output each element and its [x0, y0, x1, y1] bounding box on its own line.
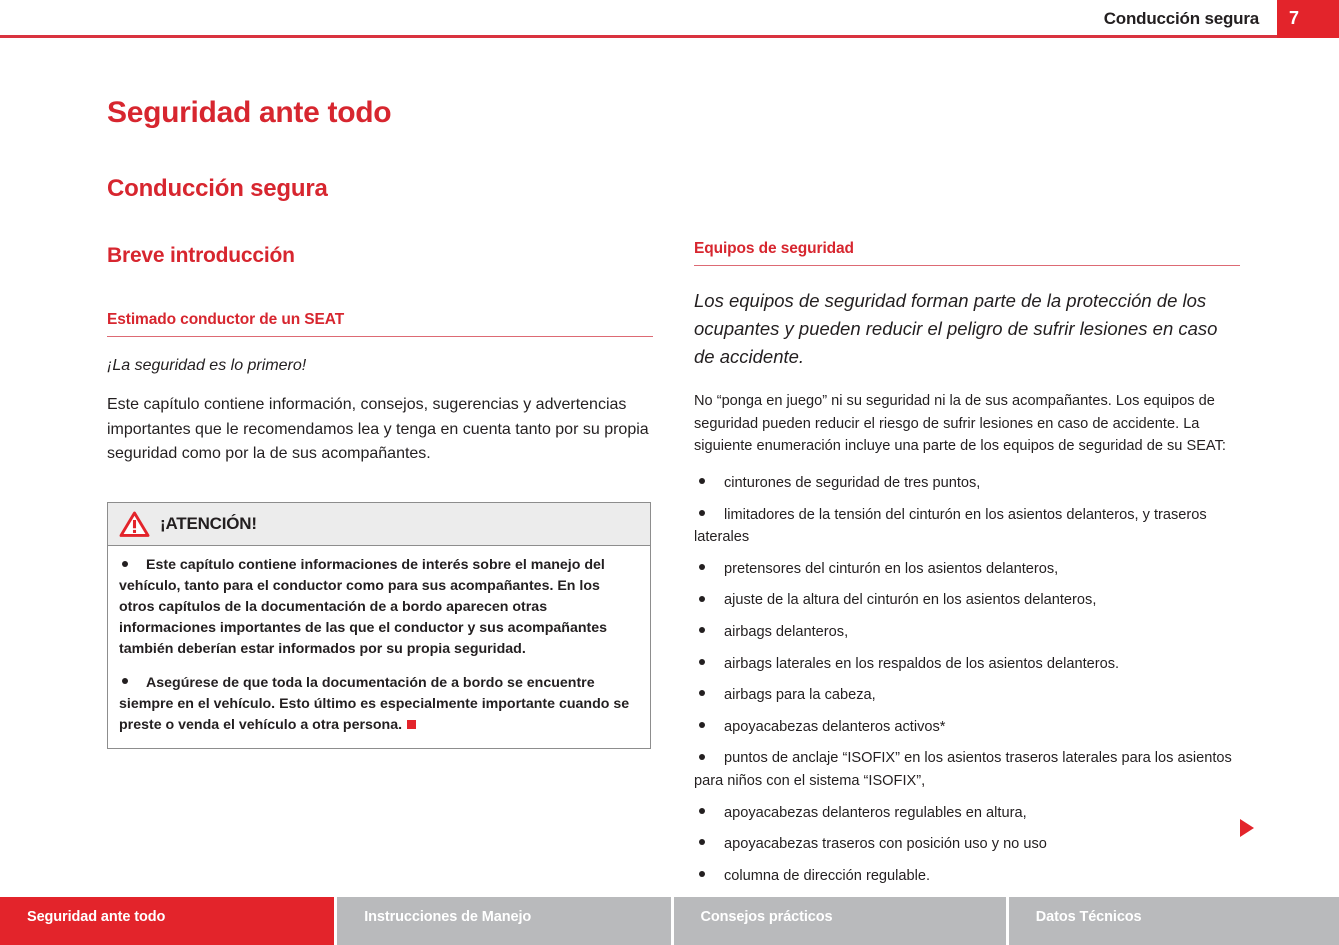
list-item-label: columna de dirección regulable. — [724, 868, 930, 884]
safety-equipment-list: cinturones de seguridad de tres puntos, … — [694, 472, 1240, 888]
list-item: puntos de anclaje “ISOFIX” en los asient… — [694, 747, 1240, 792]
list-item-label: airbags delanteros, — [724, 624, 848, 640]
list-item-label: cinturones de seguridad de tres puntos, — [724, 475, 980, 491]
left-column: Seguridad ante todo Conducción segura Br… — [107, 96, 653, 749]
bullet-dot-icon — [699, 722, 705, 728]
bullet-dot-icon — [699, 510, 705, 516]
bullet-dot-icon — [699, 627, 705, 633]
bullet-dot-icon — [699, 564, 705, 570]
right-lead-text: Los equipos de seguridad forman parte de… — [694, 287, 1240, 371]
left-lead-text: ¡La seguridad es lo primero! — [107, 354, 653, 377]
list-item-label: apoyacabezas delanteros regulables en al… — [724, 805, 1027, 821]
footer-tab-seguridad-ante-todo[interactable]: Seguridad ante todo — [0, 897, 334, 945]
bullet-dot-icon — [699, 596, 705, 602]
list-item-label: pretensores del cinturón en los asientos… — [724, 561, 1058, 577]
footer-tab-datos-tecnicos[interactable]: Datos Técnicos — [1009, 897, 1339, 945]
list-item-label: limitadores de la tensión del cinturón e… — [694, 507, 1207, 546]
attention-item: Asegúrese de que toda la documentación d… — [119, 673, 639, 736]
section-title: Breve introducción — [107, 244, 653, 267]
list-item: airbags laterales en los respaldos de lo… — [694, 653, 1240, 676]
list-item-label: apoyacabezas delanteros activos* — [724, 719, 945, 735]
list-item: limitadores de la tensión del cinturón e… — [694, 504, 1240, 549]
bullet-dot-icon — [699, 839, 705, 845]
list-item: apoyacabezas delanteros activos* — [694, 716, 1240, 739]
right-body-paragraph: No “ponga en juego” ni su seguridad ni l… — [694, 390, 1240, 458]
header-title: Conducción segura — [1104, 9, 1259, 29]
attention-box: ¡ATENCIÓN! Este capítulo contiene inform… — [107, 502, 651, 748]
list-item-label: airbags laterales en los respaldos de lo… — [724, 656, 1119, 672]
bullet-dot-icon — [699, 659, 705, 665]
right-column: Equipos de seguridad Los equipos de segu… — [694, 240, 1240, 897]
continue-arrow-icon — [1240, 819, 1254, 837]
bullet-dot-icon — [699, 754, 705, 760]
list-item-label: ajuste de la altura del cinturón en los … — [724, 592, 1096, 608]
bullet-dot-icon — [699, 871, 705, 877]
page-number: 7 — [1289, 8, 1299, 29]
list-item: airbags para la cabeza, — [694, 684, 1240, 707]
page-title: Seguridad ante todo — [107, 96, 653, 129]
attention-item-text: Asegúrese de que toda la documentación d… — [119, 675, 629, 733]
list-item: airbags delanteros, — [694, 621, 1240, 644]
footer-tab-bar: Seguridad ante todo Instrucciones de Man… — [0, 897, 1339, 945]
bullet-dot-icon — [699, 808, 705, 814]
attention-box-header: ¡ATENCIÓN! — [108, 503, 650, 546]
footer-tab-consejos-practicos[interactable]: Consejos prácticos — [674, 897, 1006, 945]
end-marker-icon — [407, 720, 416, 729]
attention-item-text: Este capítulo contiene informaciones de … — [119, 557, 607, 657]
list-item: columna de dirección regulable. — [694, 865, 1240, 888]
list-item-label: apoyacabezas traseros con posición uso y… — [724, 836, 1047, 852]
page-header: Conducción segura 7 — [0, 0, 1339, 38]
subheading-estimado-conductor: Estimado conductor de un SEAT — [107, 311, 653, 337]
attention-box-title: ¡ATENCIÓN! — [160, 514, 257, 534]
page-number-box: 7 — [1277, 0, 1339, 38]
chapter-title: Conducción segura — [107, 176, 653, 202]
list-item: apoyacabezas delanteros regulables en al… — [694, 802, 1240, 825]
left-body-paragraph: Este capítulo contiene información, cons… — [107, 393, 653, 466]
bullet-dot-icon — [699, 690, 705, 696]
header-rule — [0, 35, 1277, 38]
attention-item: Este capítulo contiene informaciones de … — [119, 555, 639, 660]
subheading-equipos-de-seguridad: Equipos de seguridad — [694, 240, 1240, 266]
list-item-label: airbags para la cabeza, — [724, 687, 876, 703]
bullet-dot-icon — [122, 678, 128, 684]
bullet-dot-icon — [122, 561, 128, 567]
list-item: ajuste de la altura del cinturón en los … — [694, 589, 1240, 612]
footer-tab-instrucciones-de-manejo[interactable]: Instrucciones de Manejo — [337, 897, 670, 945]
list-item-label: puntos de anclaje “ISOFIX” en los asient… — [694, 750, 1232, 789]
warning-triangle-icon — [119, 511, 150, 538]
list-item: cinturones de seguridad de tres puntos, — [694, 472, 1240, 495]
list-item: apoyacabezas traseros con posición uso y… — [694, 833, 1240, 856]
attention-box-body: Este capítulo contiene informaciones de … — [108, 546, 650, 747]
bullet-dot-icon — [699, 478, 705, 484]
list-item: pretensores del cinturón en los asientos… — [694, 558, 1240, 581]
